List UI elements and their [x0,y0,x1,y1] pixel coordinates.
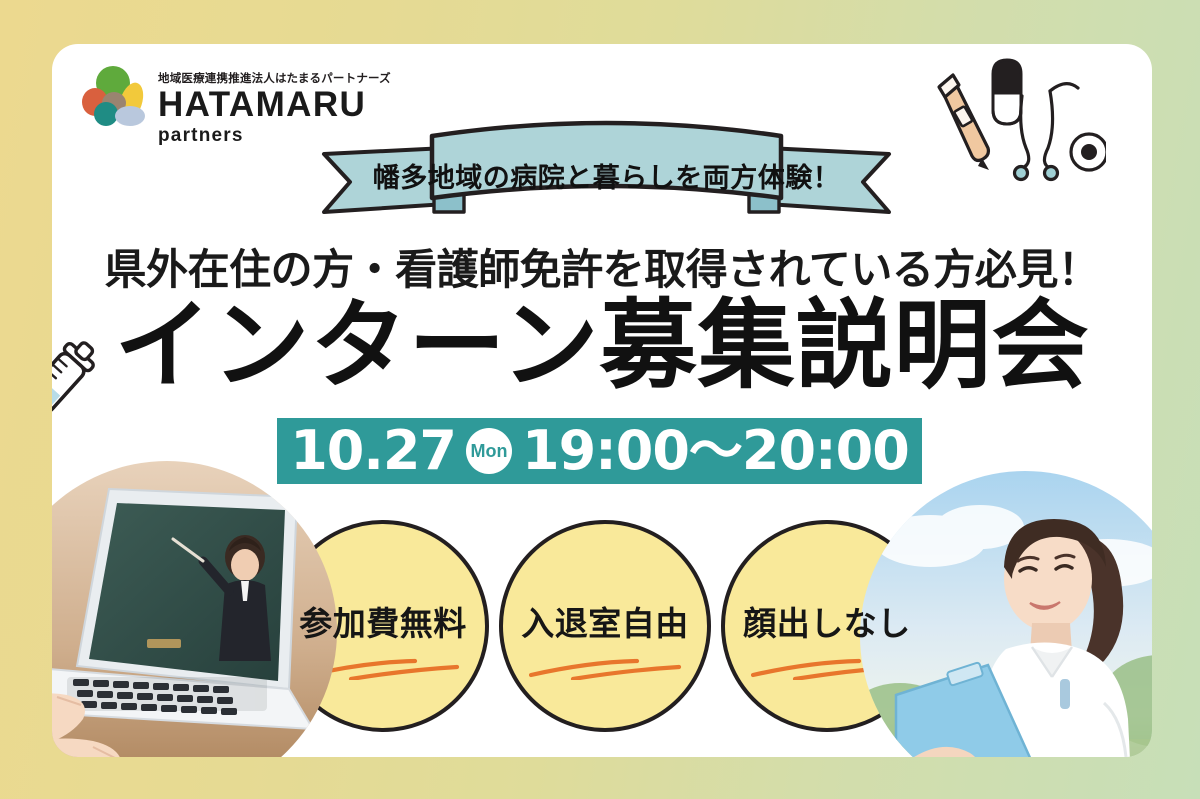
feature-badge: 入退室自由 [499,520,711,732]
logo-tagline: 地域医療連携推進法人はたまるパートナーズ [158,70,391,86]
logo-mark-icon [80,66,146,128]
event-day-of-week-badge: Mon [466,428,512,474]
medical-doodle-group [926,56,1106,186]
logo-dot-blue [115,106,145,126]
feature-badge-label: 入退室自由 [521,597,689,645]
feature-badge-label: 参加費無料 [299,597,467,645]
ribbon-text: 幡多地域の病院と暮らしを両方体験！ [314,112,899,222]
medical-icons-svg [926,56,1106,186]
laptop-illustration [52,461,337,757]
event-time: 19:00〜20:00 [522,424,909,478]
online-lecture-laptop-photo [52,461,337,757]
page-title: インターン募集説明会 [52,294,1152,399]
feature-badge-label: 顔出しなし [743,597,911,645]
badge-underline-stroke [529,658,689,680]
stethoscope-icon [1015,84,1079,180]
stethoscope-head-icon [1071,134,1106,170]
poster-card: 地域医療連携推進法人はたまるパートナーズ HATAMARU partners [52,44,1152,757]
syringe-icon [52,329,109,434]
feature-badge-group: 参加費無料 入退室自由 顔出しなし [277,520,927,750]
schedule-bar: 10.27 Mon 19:00〜20:00 [277,418,922,484]
lead-text: 県外在住の方・看護師免許を取得されている方必見！ [52,236,1152,297]
event-date: 10.27 [290,424,456,478]
pill-capsule-icon [993,60,1021,124]
ribbon-banner: 幡多地域の病院と暮らしを両方体験！ [314,112,899,222]
thermometer-icon [939,75,989,170]
